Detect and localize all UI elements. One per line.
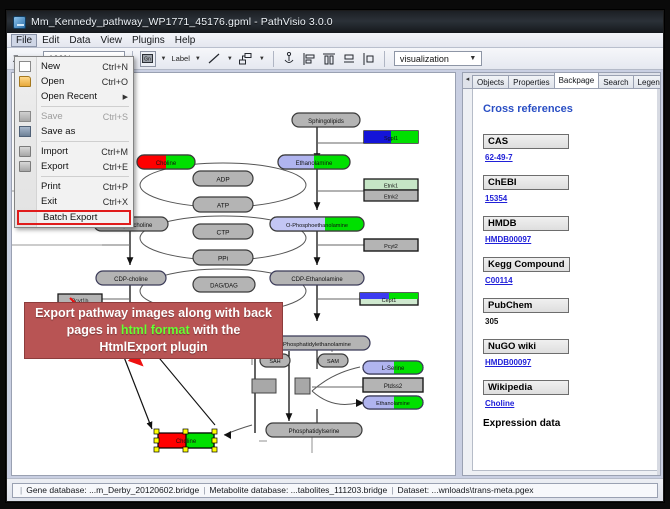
line-icon: [208, 53, 220, 64]
tab-backpage[interactable]: Backpage: [554, 72, 600, 88]
gene-cept1: Cept1: [360, 293, 418, 305]
node-choline-selected: Choline: [154, 425, 252, 452]
xref-kegg: Kegg Compound C00114: [483, 254, 647, 285]
xref-wikipedia-label: Wikipedia: [483, 380, 569, 395]
svg-text:SAM: SAM: [327, 359, 339, 365]
svg-text:Phosphatidylethanolamine: Phosphatidylethanolamine: [283, 342, 351, 348]
status-divider-2: |: [391, 485, 393, 495]
gene-etnk2: Etnk2: [364, 190, 418, 201]
menu-item-import[interactable]: Import Ctrl+M: [15, 144, 133, 159]
menu-view[interactable]: View: [95, 34, 127, 47]
backpage-panel: Cross references CAS 62-49-7 ChEBI 15354…: [472, 89, 658, 471]
tab-properties[interactable]: Properties: [508, 75, 554, 88]
stack-button[interactable]: [361, 51, 377, 67]
gene-etnk1: Etnk1: [364, 179, 418, 190]
menu-item-save-accel: Ctrl+S: [103, 112, 128, 122]
side-panel: ◂ Objects Properties Backpage Search Leg…: [462, 72, 661, 476]
svg-text:CDP-Ethanolamine: CDP-Ethanolamine: [291, 277, 343, 283]
svg-text:Gn: Gn: [144, 57, 151, 63]
backpage-heading: Cross references: [483, 103, 647, 115]
new-document-icon: [19, 61, 31, 72]
gene-pcyt2: Pcyt2: [364, 239, 418, 251]
anchor-tool-button[interactable]: [281, 51, 297, 67]
menu-edit[interactable]: Edit: [37, 34, 64, 47]
xref-hmdb-value[interactable]: HMDB00097: [485, 235, 647, 244]
xref-hmdb-label: HMDB: [483, 216, 569, 231]
node-atp: ATP: [193, 197, 253, 212]
menu-item-new-accel: Ctrl+N: [102, 62, 128, 72]
node-cdp-choline: CDP-choline: [96, 271, 166, 285]
menu-item-new[interactable]: New Ctrl+N: [15, 59, 133, 74]
annotation-line-2: pages in html format with the: [67, 322, 241, 339]
menu-separator-2: [41, 141, 129, 142]
xref-pubchem: PubChem 305: [483, 295, 647, 326]
anchor-icon: [283, 52, 295, 65]
line-dropdown-icon[interactable]: ▼: [226, 56, 234, 62]
svg-text:Etnk1: Etnk1: [384, 184, 398, 190]
node-adp: ADP: [193, 171, 253, 186]
interaction-icon: [239, 53, 252, 65]
menu-separator-1: [41, 106, 129, 107]
menu-item-new-label: New: [41, 61, 102, 72]
annotation-line-2a: pages in: [67, 323, 121, 337]
xref-kegg-label: Kegg Compound: [483, 257, 570, 272]
xref-chebi: ChEBI 15354: [483, 172, 647, 203]
xref-nugo: NuGO wiki HMDB00097: [483, 336, 647, 367]
datanode-tool-button[interactable]: Gn: [140, 51, 156, 67]
annotation-line-3: HtmlExport plugin: [99, 339, 207, 356]
xref-cas: CAS 62-49-7: [483, 131, 647, 162]
visualization-value: visualization: [400, 54, 449, 64]
submenu-arrow-icon: ▶: [123, 93, 128, 101]
svg-text:PPi: PPi: [218, 256, 228, 263]
menu-item-save-as-label: Save as: [41, 126, 128, 137]
xref-wikipedia-value[interactable]: Choline: [485, 399, 647, 408]
align-left-button[interactable]: [301, 51, 317, 67]
svg-text:Sphingolipids: Sphingolipids: [308, 119, 344, 125]
menu-item-batch-export[interactable]: Batch Export: [17, 210, 131, 225]
svg-text:DAG/DAG: DAG/DAG: [210, 284, 238, 290]
menu-item-save-label: Save: [41, 111, 103, 122]
node-ppi: PPi: [193, 250, 253, 265]
open-folder-icon: [19, 76, 31, 87]
align-center-icon: [323, 53, 335, 65]
xref-cas-label: CAS: [483, 134, 569, 149]
menu-data[interactable]: Data: [64, 34, 95, 47]
svg-text:Ptdss2: Ptdss2: [384, 384, 403, 390]
file-menu-dropdown[interactable]: New Ctrl+N Open Ctrl+O Open Recent ▶ Sav…: [14, 56, 134, 228]
node-o-phosphoethanolamine: O-Phosphoethanolamine: [270, 217, 364, 231]
tab-search[interactable]: Search: [598, 75, 633, 88]
status-bar: | Gene database: ...m_Derby_20120602.bri…: [7, 478, 663, 501]
node-ethanolamine-top: Ethanolamine: [278, 155, 350, 169]
side-panel-scrollbar[interactable]: [657, 89, 660, 475]
svg-text:Etnk2: Etnk2: [384, 195, 398, 201]
chevron-down-icon-2: ▼: [467, 55, 479, 62]
align-left-icon: [303, 53, 315, 65]
xref-chebi-value[interactable]: 15354: [485, 194, 647, 203]
annotation-highlight: html format: [121, 323, 190, 337]
menu-item-print[interactable]: Print Ctrl+P: [15, 179, 133, 194]
annotation-line-2c: with the: [190, 323, 241, 337]
save-disk-icon: [19, 111, 31, 122]
svg-text:Cept1: Cept1: [382, 298, 397, 304]
menu-item-open-label: Open: [41, 76, 102, 87]
menu-item-save: Save Ctrl+S: [15, 109, 133, 124]
tab-legend[interactable]: Legend: [633, 75, 661, 88]
node-ethanolamine-bottom: Ethanolamine: [363, 396, 423, 409]
xref-pubchem-label: PubChem: [483, 298, 569, 313]
menu-item-save-as[interactable]: Save as: [15, 124, 133, 139]
svg-text:CTP: CTP: [217, 230, 230, 237]
svg-text:Choline: Choline: [176, 439, 197, 445]
xref-nugo-value[interactable]: HMDB00097: [485, 358, 647, 367]
menu-item-import-accel: Ctrl+M: [101, 147, 128, 157]
svg-text:ATP: ATP: [217, 203, 229, 210]
menu-item-open-recent[interactable]: Open Recent ▶: [15, 89, 133, 104]
menu-item-exit[interactable]: Exit Ctrl+X: [15, 194, 133, 209]
menu-plugins[interactable]: Plugins: [127, 34, 170, 47]
status-gene-database: Gene database: ...m_Derby_20120602.bridg…: [26, 485, 199, 495]
node-phosphatidylserine: Phosphatidylserine: [266, 423, 362, 437]
application-window: Mm_Kennedy_pathway_WP1771_45176.gpml - P…: [6, 10, 664, 502]
menu-item-open[interactable]: Open Ctrl+O: [15, 74, 133, 89]
svg-text:Pcyt2: Pcyt2: [384, 244, 398, 250]
svg-text:Choline: Choline: [156, 161, 177, 167]
tab-scroll-icon[interactable]: ◂: [464, 74, 471, 86]
save-as-icon: [19, 126, 31, 137]
screenshot-root: Mm_Kennedy_pathway_WP1771_45176.gpml - P…: [0, 0, 670, 509]
tab-objects[interactable]: Objects: [472, 75, 509, 88]
menu-item-exit-label: Exit: [41, 196, 103, 207]
xref-pubchem-value: 305: [485, 317, 647, 326]
stack-icon: [363, 53, 375, 65]
xref-wikipedia: Wikipedia Choline: [483, 377, 647, 408]
toolbar-separator-2: [273, 51, 274, 67]
status-dataset: Dataset: ...wnloads\trans-meta.pgex: [397, 485, 533, 495]
status-metabolite-database: Metabolite database: ...tabolites_111203…: [209, 485, 387, 495]
side-panel-tabs: ◂ Objects Properties Backpage Search Leg…: [463, 73, 660, 89]
gene-ptdss2: Ptdss2: [363, 378, 423, 392]
menu-item-export-label: Export: [41, 161, 103, 172]
status-bar-inner: | Gene database: ...m_Derby_20120602.bri…: [12, 483, 658, 498]
menu-item-import-label: Import: [41, 146, 101, 157]
node-l-serine: L-Serine: [363, 361, 423, 374]
menu-bar: File Edit Data View Plugins Help: [7, 33, 663, 48]
menu-item-export[interactable]: Export Ctrl+E: [15, 159, 133, 174]
label-dropdown-icon[interactable]: ▼: [194, 56, 202, 62]
xref-nugo-label: NuGO wiki: [483, 339, 569, 354]
xref-chebi-label: ChEBI: [483, 175, 569, 190]
toolbar-separator-3: [384, 51, 385, 67]
xref-hmdb: HMDB HMDB00097: [483, 213, 647, 244]
svg-text:ADP: ADP: [216, 177, 229, 184]
menu-item-open-recent-label: Open Recent: [41, 91, 123, 102]
svg-text:O-Phosphoethanolamine: O-Phosphoethanolamine: [286, 223, 348, 229]
align-center-button[interactable]: [321, 51, 337, 67]
svg-text:Sgpl1: Sgpl1: [384, 136, 398, 142]
gene-sgpl1: Sgpl1: [364, 131, 418, 143]
svg-text:Ethanolamine: Ethanolamine: [376, 401, 410, 407]
node-sam: SAM: [318, 354, 348, 367]
xref-kegg-value[interactable]: C00114: [485, 276, 647, 285]
export-icon: [19, 161, 31, 172]
status-divider-1: |: [203, 485, 205, 495]
svg-text:L-Serine: L-Serine: [382, 366, 405, 372]
xref-cas-value[interactable]: 62-49-7: [485, 153, 647, 162]
svg-text:Ethanolamine: Ethanolamine: [296, 161, 333, 167]
node-ctp: CTP: [193, 224, 253, 239]
node-sphingolipids: Sphingolipids: [292, 113, 360, 127]
node-cdp-ethanolamine: CDP-Ethanolamine: [270, 271, 364, 285]
distribute-icon: [343, 53, 355, 65]
interaction-dropdown-icon[interactable]: ▼: [258, 56, 266, 62]
menu-item-print-label: Print: [41, 181, 103, 192]
genebox-icon: Gn: [142, 54, 153, 63]
annotation-callout: Export pathway images along with back pa…: [24, 302, 283, 359]
window-title: Mm_Kennedy_pathway_WP1771_45176.gpml - P…: [31, 16, 333, 28]
interaction-tool-button[interactable]: [238, 51, 254, 67]
svg-text:Phosphatidylserine: Phosphatidylserine: [289, 429, 340, 435]
distribute-button[interactable]: [341, 51, 357, 67]
expression-data-heading: Expression data: [483, 418, 647, 429]
annotation-line-1: Export pathway images along with back: [35, 305, 272, 322]
line-tool-button[interactable]: [206, 51, 222, 67]
menu-file[interactable]: File: [11, 34, 37, 47]
menu-separator-3: [41, 176, 129, 177]
datanode-dropdown-icon[interactable]: ▼: [160, 56, 168, 62]
menu-item-open-accel: Ctrl+O: [102, 77, 128, 87]
svg-text:SAH: SAH: [269, 359, 280, 365]
menu-item-batch-export-label: Batch Export: [43, 212, 124, 223]
menu-item-exit-accel: Ctrl+X: [103, 197, 128, 207]
status-divider-0: |: [20, 485, 22, 495]
label-tool-button[interactable]: Label: [172, 54, 190, 63]
title-bar: Mm_Kennedy_pathway_WP1771_45176.gpml - P…: [7, 11, 663, 33]
pathvisio-icon: [13, 16, 26, 29]
svg-text:CDP-choline: CDP-choline: [114, 277, 148, 283]
import-icon: [19, 146, 31, 157]
node-dag-dag: DAG/DAG: [193, 277, 255, 292]
menu-item-export-accel: Ctrl+E: [103, 162, 128, 172]
visualization-combo[interactable]: visualization ▼: [394, 51, 482, 66]
menu-help[interactable]: Help: [170, 34, 201, 47]
menu-item-print-accel: Ctrl+P: [103, 182, 128, 192]
node-choline-top: Choline: [137, 155, 195, 169]
